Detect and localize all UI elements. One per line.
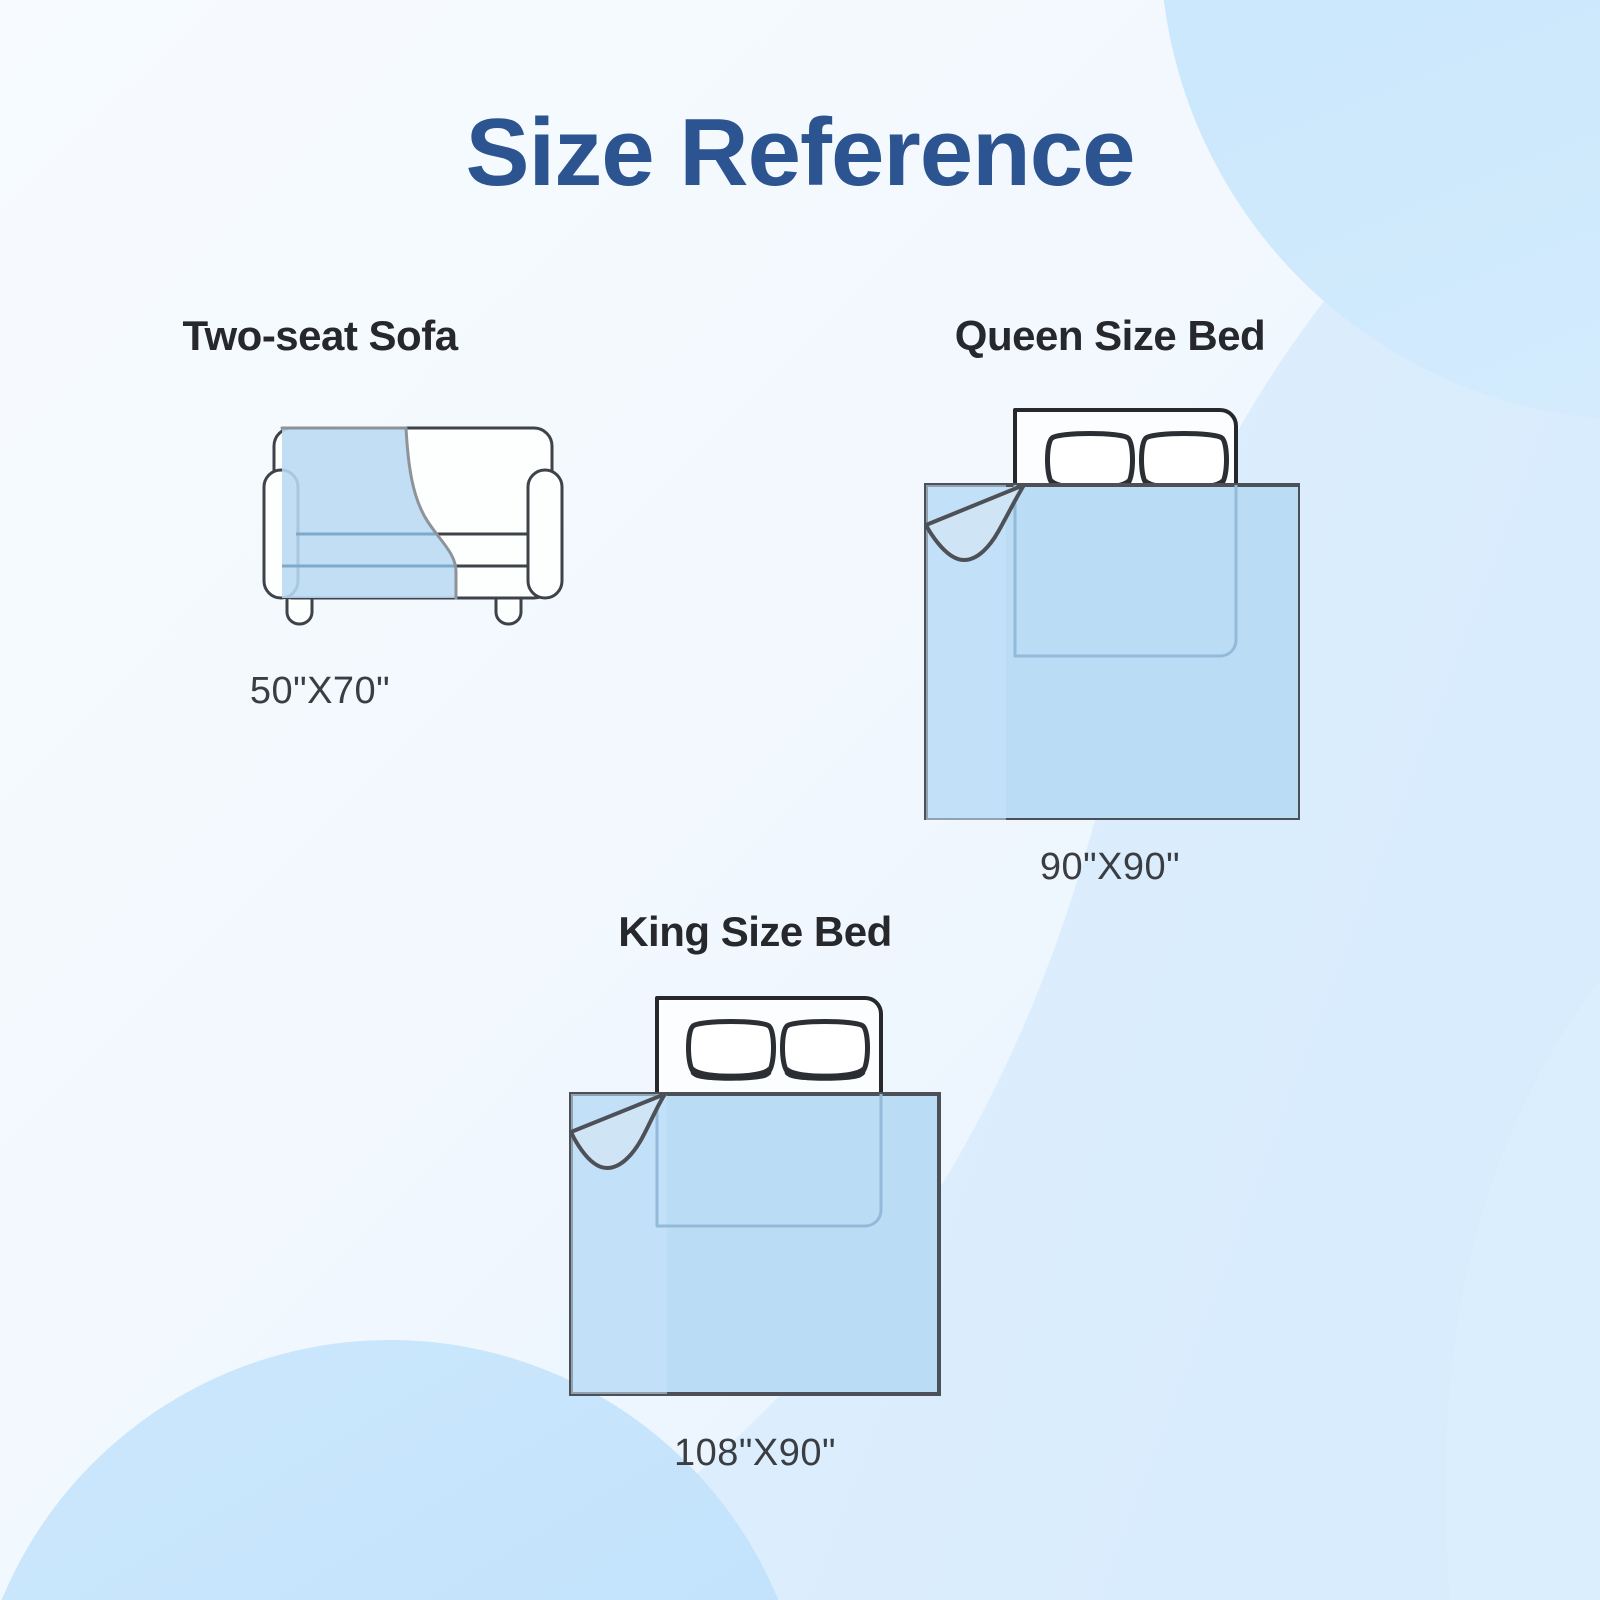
card-title-queen-size-bed: Queen Size Bed [830,312,1390,360]
card-dimensions-queen-size-bed: 90"X90" [830,846,1390,889]
bed-icon-king [565,976,945,1406]
page-content: Size Reference Two-seat Sofa [0,0,1600,1600]
card-dimensions-king-size-bed: 108"X90" [475,1432,1035,1475]
king-pillow-right [783,1022,868,1081]
size-card-queen-size-bed: Queen Size Bed 90"X90" [830,312,1390,889]
sofa-icon [260,412,620,632]
card-title-king-size-bed: King Size Bed [475,908,1035,956]
bed-icon-queen [920,380,1300,820]
king-pillow-left [689,1022,774,1081]
size-card-two-seat-sofa: Two-seat Sofa [160,312,720,713]
page-title: Size Reference [0,100,1600,206]
card-dimensions-two-seat-sofa: 50"X70" [40,670,600,713]
card-title-two-seat-sofa: Two-seat Sofa [40,312,600,360]
sofa-arm-right [528,470,562,598]
size-card-king-size-bed: King Size Bed 108"X90" [475,908,1035,1475]
